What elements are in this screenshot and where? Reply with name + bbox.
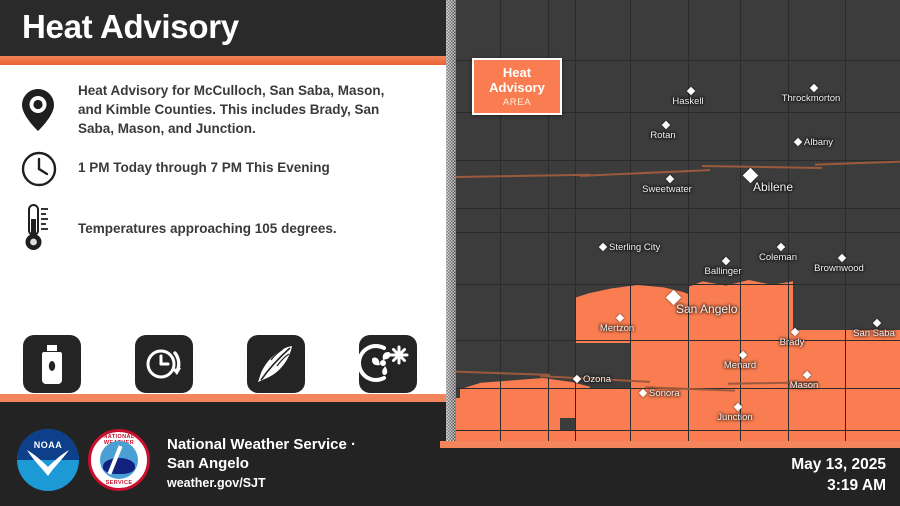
city-dot-icon: [722, 257, 730, 265]
water-bottle-icon: [23, 335, 81, 393]
nws-seal-bottom-text: SERVICE: [91, 480, 147, 486]
city-label: San Saba: [853, 328, 895, 339]
city-label: Menard: [724, 360, 756, 371]
highway-line: [815, 160, 900, 165]
feather-icon: [247, 335, 305, 393]
fan-snowflake-icon: [359, 335, 417, 393]
agency-line-2: San Angelo: [167, 454, 356, 473]
highway-line: [440, 370, 550, 376]
city-label: Sterling City: [609, 242, 660, 253]
stamp-date: May 13, 2025: [791, 454, 886, 475]
city-dot-icon: [662, 121, 670, 129]
highway-line: [440, 174, 590, 179]
clock-arrow-icon: [135, 335, 193, 393]
clock-icon: [21, 151, 57, 187]
map-pin-icon: [22, 89, 54, 131]
panel-footer: NOAA NATIONAL WEATHER SERVICE National W…: [0, 402, 446, 506]
agency-line-1: National Weather Service ·: [167, 435, 356, 454]
noaa-seagull-icon: [25, 446, 71, 482]
city-label: Sonora: [649, 388, 680, 399]
city-dot-icon: [599, 243, 607, 251]
page-title: Heat Advisory: [22, 8, 239, 46]
city-label: Coleman: [759, 252, 797, 263]
noaa-logo: NOAA: [17, 429, 79, 491]
title-bar: Heat Advisory: [0, 0, 446, 56]
panel-body: Heat Advisory for McCulloch, San Saba, M…: [0, 65, 446, 402]
legend-line-2: Advisory: [489, 80, 545, 95]
city-label: Brady: [780, 337, 805, 348]
city-label: Sweetwater: [642, 184, 692, 195]
stamp-time: 3:19 AM: [791, 475, 886, 496]
nws-seal-inner: [100, 441, 138, 479]
highway-line: [580, 169, 710, 177]
city-dot-icon: [794, 138, 802, 146]
city-label: Junction: [717, 412, 752, 423]
city-label: Abilene: [753, 180, 793, 194]
legend-heat-advisory-area: Heat Advisory AREA: [472, 58, 562, 115]
thermometer-icon: [22, 203, 56, 253]
city-label: Rotan: [650, 130, 675, 141]
city-label: Haskell: [672, 96, 703, 107]
city-dot-icon: [810, 84, 818, 92]
timestamp: May 13, 2025 3:19 AM: [791, 454, 886, 496]
city-label: Throckmorton: [782, 93, 841, 104]
legend-line-3: AREA: [503, 97, 531, 108]
legend-line-1: Heat: [503, 65, 531, 80]
city-dot-icon: [666, 175, 674, 183]
city-label: San Angelo: [676, 302, 737, 316]
city-label: Albany: [804, 137, 833, 148]
city-dot-icon: [777, 243, 785, 251]
city-label: Mertzon: [600, 323, 634, 334]
city-label: Ballinger: [705, 266, 742, 277]
city-label: Ozona: [583, 374, 611, 385]
city-label: Mason: [790, 380, 819, 391]
detail-text-temperature: Temperatures approaching 105 degrees.: [78, 219, 418, 238]
agency-website[interactable]: weather.gov/SJT: [167, 476, 356, 490]
city-dot-icon: [873, 319, 881, 327]
city-label: Brownwood: [814, 263, 864, 274]
agency-identity: National Weather Service · San Angelo we…: [167, 435, 356, 490]
nws-seal: NATIONAL WEATHER SERVICE: [88, 429, 150, 491]
info-panel: Heat Advisory Heat Advisory for McCulloc…: [0, 0, 446, 506]
heat-advisory-graphic: HaskellThrockmortonRotanAlbanySweetwater…: [0, 0, 900, 506]
detail-text-location: Heat Advisory for McCulloch, San Saba, M…: [78, 81, 408, 138]
highway-line: [702, 165, 822, 169]
detail-text-time: 1 PM Today through 7 PM This Evening: [78, 158, 418, 177]
